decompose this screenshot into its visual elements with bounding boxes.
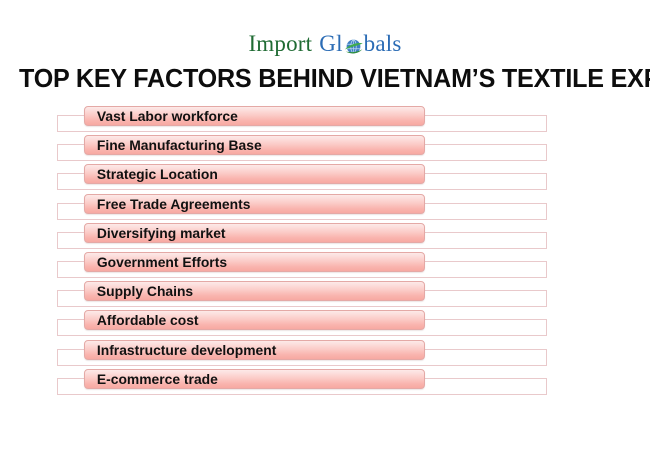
bar-item[interactable]: E-commerce trade [84, 369, 425, 389]
bar-item[interactable]: Supply Chains [84, 281, 425, 301]
chart-row: Supply Chains [0, 279, 650, 308]
bar-label: Supply Chains [85, 284, 193, 298]
factors-bar-chart: Vast Labor workforce Fine Manufacturing … [0, 104, 650, 404]
bar-label: Diversifying market [85, 226, 226, 240]
chart-row: Infrastructure development [0, 338, 650, 367]
chart-row: Free Trade Agreements [0, 192, 650, 221]
brand-logo: ImportGl bals [0, 28, 650, 58]
chart-row: Affordable cost [0, 308, 650, 337]
bar-label: E-commerce trade [85, 372, 218, 386]
bar-item[interactable]: Affordable cost [84, 310, 425, 330]
bar-label: Government Efforts [85, 255, 227, 269]
bar-label: Fine Manufacturing Base [85, 138, 262, 152]
logo-text-gl: Gl [319, 32, 342, 55]
chart-row: Government Efforts [0, 250, 650, 279]
chart-row: E-commerce trade [0, 367, 650, 396]
bar-item[interactable]: Infrastructure development [84, 340, 425, 360]
page-title: TOP KEY FACTORS BEHIND VIETNAM’S TEXTILE… [19, 64, 624, 94]
chart-row: Fine Manufacturing Base [0, 133, 650, 162]
bar-label: Infrastructure development [85, 343, 276, 357]
globe-icon [343, 36, 364, 57]
bar-item[interactable]: Strategic Location [84, 164, 425, 184]
bar-item[interactable]: Fine Manufacturing Base [84, 135, 425, 155]
chart-row: Vast Labor workforce [0, 104, 650, 133]
logo-text-bals: bals [364, 32, 402, 55]
bar-item[interactable]: Diversifying market [84, 223, 425, 243]
bar-label: Affordable cost [85, 313, 199, 327]
bar-item[interactable]: Vast Labor workforce [84, 106, 425, 126]
bar-label: Strategic Location [85, 167, 218, 181]
chart-row: Diversifying market [0, 221, 650, 250]
slide-canvas: ImportGl bals TOP KEY FACTORS BEHIND VIE… [0, 0, 650, 450]
bar-item[interactable]: Government Efforts [84, 252, 425, 272]
bar-label: Vast Labor workforce [85, 109, 238, 123]
bar-item[interactable]: Free Trade Agreements [84, 194, 425, 214]
bar-label: Free Trade Agreements [85, 197, 250, 211]
chart-row: Strategic Location [0, 162, 650, 191]
logo-text-import: Import [248, 32, 312, 55]
